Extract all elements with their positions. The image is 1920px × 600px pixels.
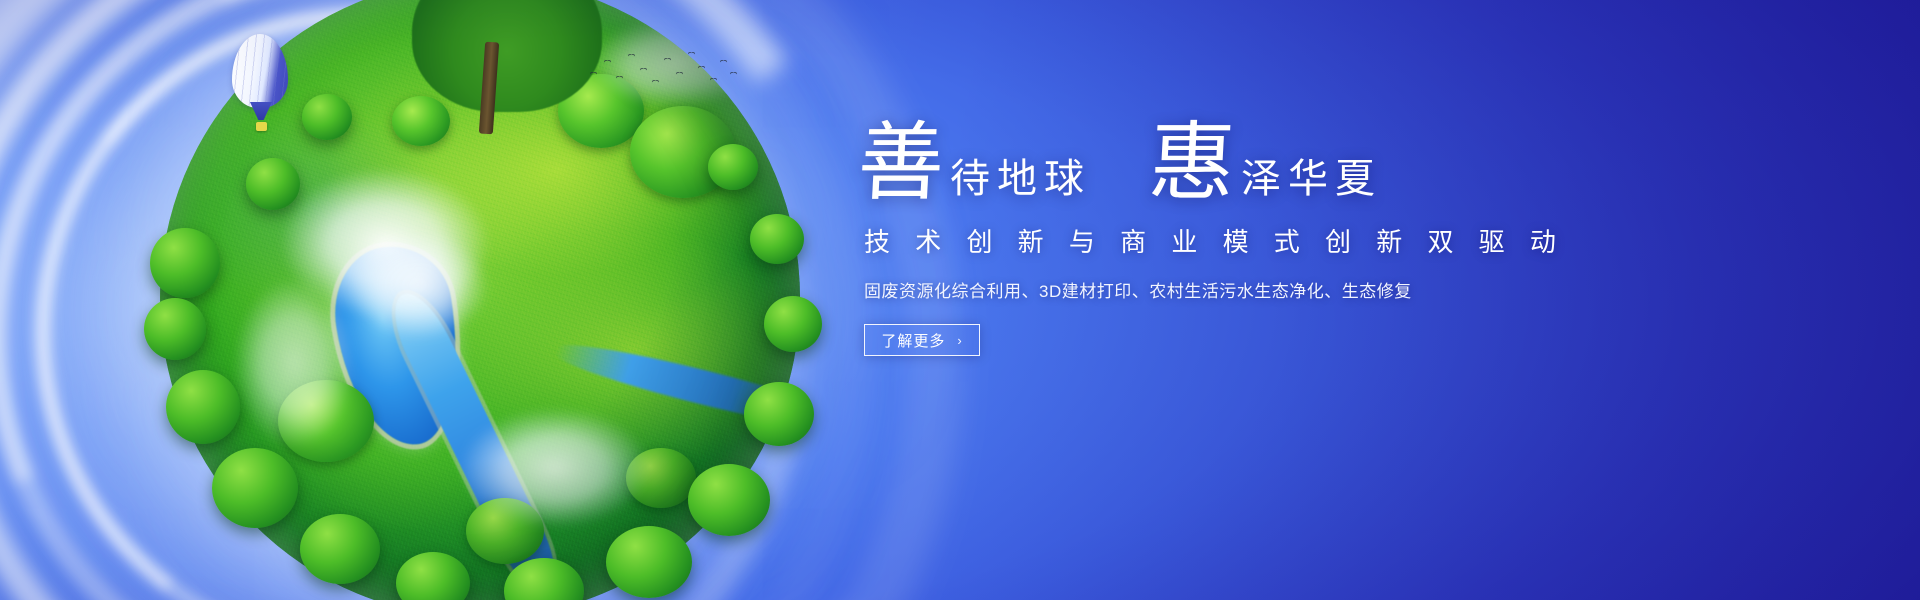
learn-more-button[interactable]: 了解更多 ›	[864, 324, 980, 356]
headline-lead-char-1: 善	[856, 120, 947, 206]
headline-phrase-2: 惠 泽华夏	[1149, 120, 1382, 206]
banner-subtitle: 技 术 创 新 与 商 业 模 式 创 新 双 驱 动	[864, 222, 1858, 259]
chevron-right-icon: ›	[957, 334, 962, 347]
headline-phrase-1: 善 待地球	[858, 120, 1091, 206]
learn-more-label: 了解更多	[881, 330, 945, 351]
headline-lead-char-2: 惠	[1147, 120, 1238, 206]
headline-rest-1: 待地球	[950, 159, 1091, 203]
banner-copy: 善 待地球 惠 泽华夏 技 术 创 新 与 商 业 模 式 创 新 双 驱 动 …	[858, 120, 1858, 356]
hero-banner: 善 待地球 惠 泽华夏 技 术 创 新 与 商 业 模 式 创 新 双 驱 动 …	[0, 0, 1920, 600]
headline-rest-2: 泽华夏	[1241, 159, 1382, 203]
banner-description: 固废资源化综合利用、3D建材打印、农村生活污水生态净化、生态修复	[864, 277, 1858, 302]
headline: 善 待地球 惠 泽华夏	[858, 120, 1858, 206]
